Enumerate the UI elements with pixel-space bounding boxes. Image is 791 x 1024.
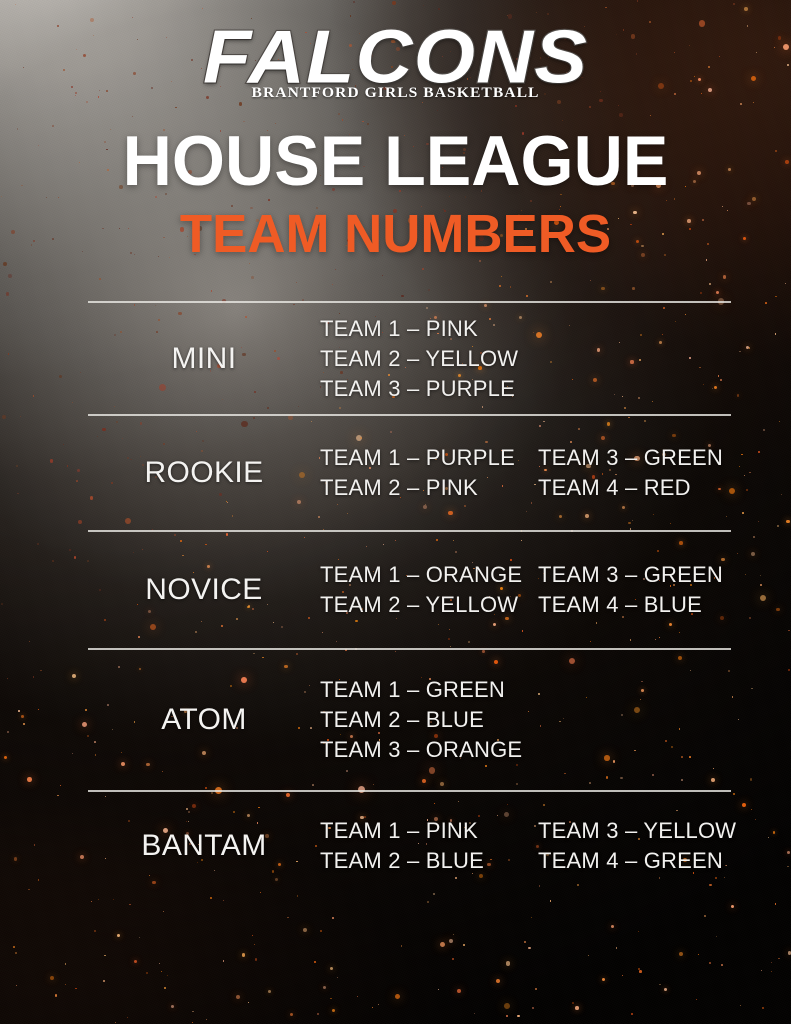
team-entry: TEAM 2 – PINK <box>320 473 538 503</box>
table-row: MINI TEAM 1 – PINK TEAM 2 – YELLOW TEAM … <box>88 301 731 414</box>
team-entry: TEAM 3 – GREEN <box>538 443 738 473</box>
division-teams: TEAM 1 – PURPLE TEAM 2 – PINK TEAM 3 – G… <box>320 443 738 503</box>
table-row: BANTAM TEAM 1 – PINK TEAM 2 – BLUE TEAM … <box>88 790 731 900</box>
table-row: NOVICE TEAM 1 – ORANGE TEAM 2 – YELLOW T… <box>88 530 731 648</box>
team-entry: TEAM 2 – YELLOW <box>320 590 538 620</box>
division-teams: TEAM 1 – ORANGE TEAM 2 – YELLOW TEAM 3 –… <box>320 560 738 620</box>
page-subtitle: TEAM NUMBERS <box>0 207 791 263</box>
team-entry: TEAM 2 – BLUE <box>320 705 538 735</box>
team-column-1: TEAM 1 – PINK TEAM 2 – YELLOW TEAM 3 – P… <box>320 314 538 404</box>
division-name: MINI <box>88 342 320 376</box>
page-title: HOUSE LEAGUE <box>0 126 791 199</box>
team-column-2: TEAM 3 – GREEN TEAM 4 – BLUE <box>538 560 738 620</box>
division-teams: TEAM 1 – PINK TEAM 2 – YELLOW TEAM 3 – P… <box>320 314 738 404</box>
team-entry: TEAM 1 – PINK <box>320 314 538 344</box>
table-row: ATOM TEAM 1 – GREEN TEAM 2 – BLUE TEAM 3… <box>88 648 731 790</box>
team-column-1: TEAM 1 – PURPLE TEAM 2 – PINK <box>320 443 538 503</box>
division-teams: TEAM 1 – GREEN TEAM 2 – BLUE TEAM 3 – OR… <box>320 675 738 765</box>
team-column-1: TEAM 1 – ORANGE TEAM 2 – YELLOW <box>320 560 538 620</box>
division-teams: TEAM 1 – PINK TEAM 2 – BLUE TEAM 3 – YEL… <box>320 816 738 876</box>
team-entry: TEAM 1 – ORANGE <box>320 560 538 590</box>
poster-header: FALCONS BRANTFORD GIRLS BASKETBALL HOUSE… <box>0 0 791 260</box>
team-column-2: TEAM 3 – YELLOW TEAM 4 – GREEN <box>538 816 738 876</box>
falcons-logo-subtitle: BRANTFORD GIRLS BASKETBALL <box>0 85 791 102</box>
team-entry: TEAM 3 – ORANGE <box>320 735 538 765</box>
team-numbers-table: MINI TEAM 1 – PINK TEAM 2 – YELLOW TEAM … <box>88 301 731 900</box>
division-name: NOVICE <box>88 573 320 607</box>
team-column-2 <box>538 314 738 404</box>
team-entry: TEAM 1 – PURPLE <box>320 443 538 473</box>
falcons-logo: FALCONS BRANTFORD GIRLS BASKETBALL <box>0 22 791 108</box>
team-entry: TEAM 4 – GREEN <box>538 846 738 876</box>
division-name: ATOM <box>88 703 320 737</box>
division-name: BANTAM <box>88 829 320 863</box>
team-entry: TEAM 2 – BLUE <box>320 846 538 876</box>
team-entry: TEAM 3 – GREEN <box>538 560 738 590</box>
team-entry: TEAM 3 – YELLOW <box>538 816 738 846</box>
team-column-2 <box>538 675 738 765</box>
team-entry: TEAM 1 – PINK <box>320 816 538 846</box>
poster-canvas: FALCONS BRANTFORD GIRLS BASKETBALL HOUSE… <box>0 0 791 1024</box>
team-entry: TEAM 4 – BLUE <box>538 590 738 620</box>
team-entry: TEAM 2 – YELLOW <box>320 344 538 374</box>
team-entry: TEAM 4 – RED <box>538 473 738 503</box>
team-column-1: TEAM 1 – GREEN TEAM 2 – BLUE TEAM 3 – OR… <box>320 675 538 765</box>
falcons-wordmark: FALCONS <box>0 19 791 96</box>
team-column-2: TEAM 3 – GREEN TEAM 4 – RED <box>538 443 738 503</box>
team-entry: TEAM 1 – GREEN <box>320 675 538 705</box>
table-row: ROOKIE TEAM 1 – PURPLE TEAM 2 – PINK TEA… <box>88 414 731 530</box>
team-entry: TEAM 3 – PURPLE <box>320 374 538 404</box>
division-name: ROOKIE <box>88 456 320 490</box>
team-column-1: TEAM 1 – PINK TEAM 2 – BLUE <box>320 816 538 876</box>
